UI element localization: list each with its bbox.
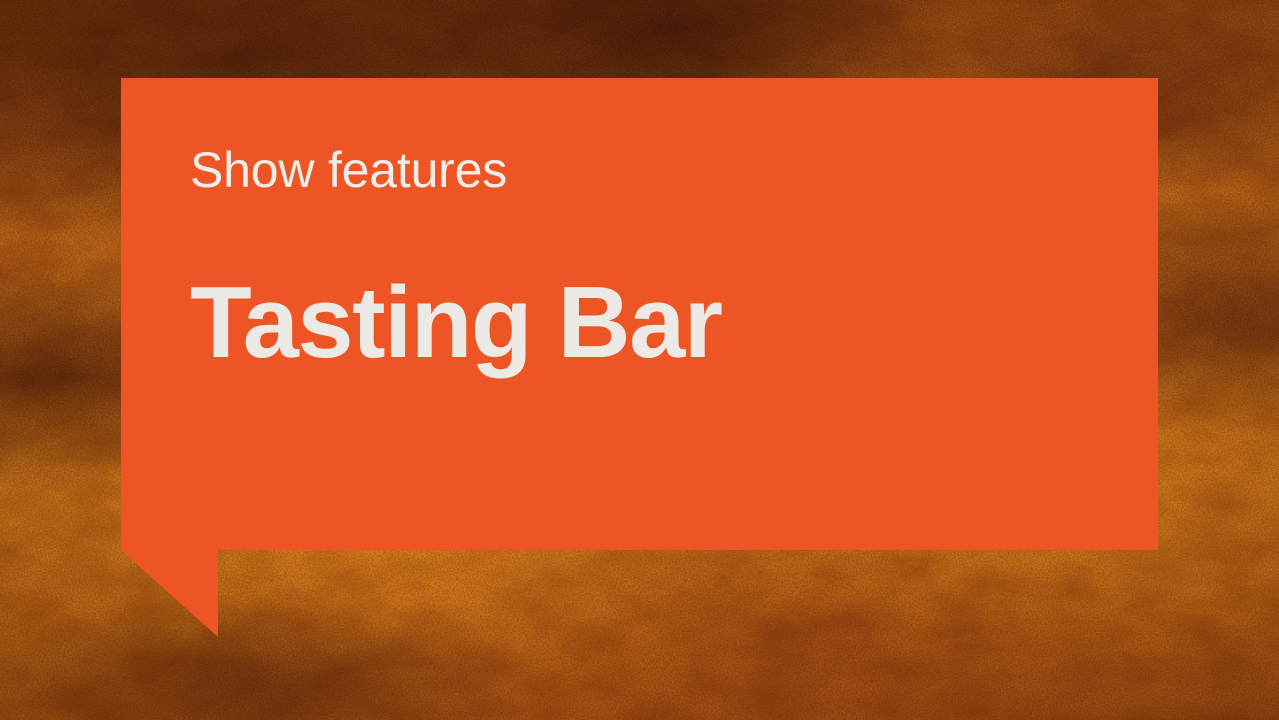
callout-text-block: Show features Tasting Bar <box>190 78 1130 374</box>
eyebrow-label: Show features <box>190 78 1130 195</box>
slide-canvas: Show features Tasting Bar <box>0 0 1279 720</box>
page-title: Tasting Bar <box>190 195 1130 374</box>
